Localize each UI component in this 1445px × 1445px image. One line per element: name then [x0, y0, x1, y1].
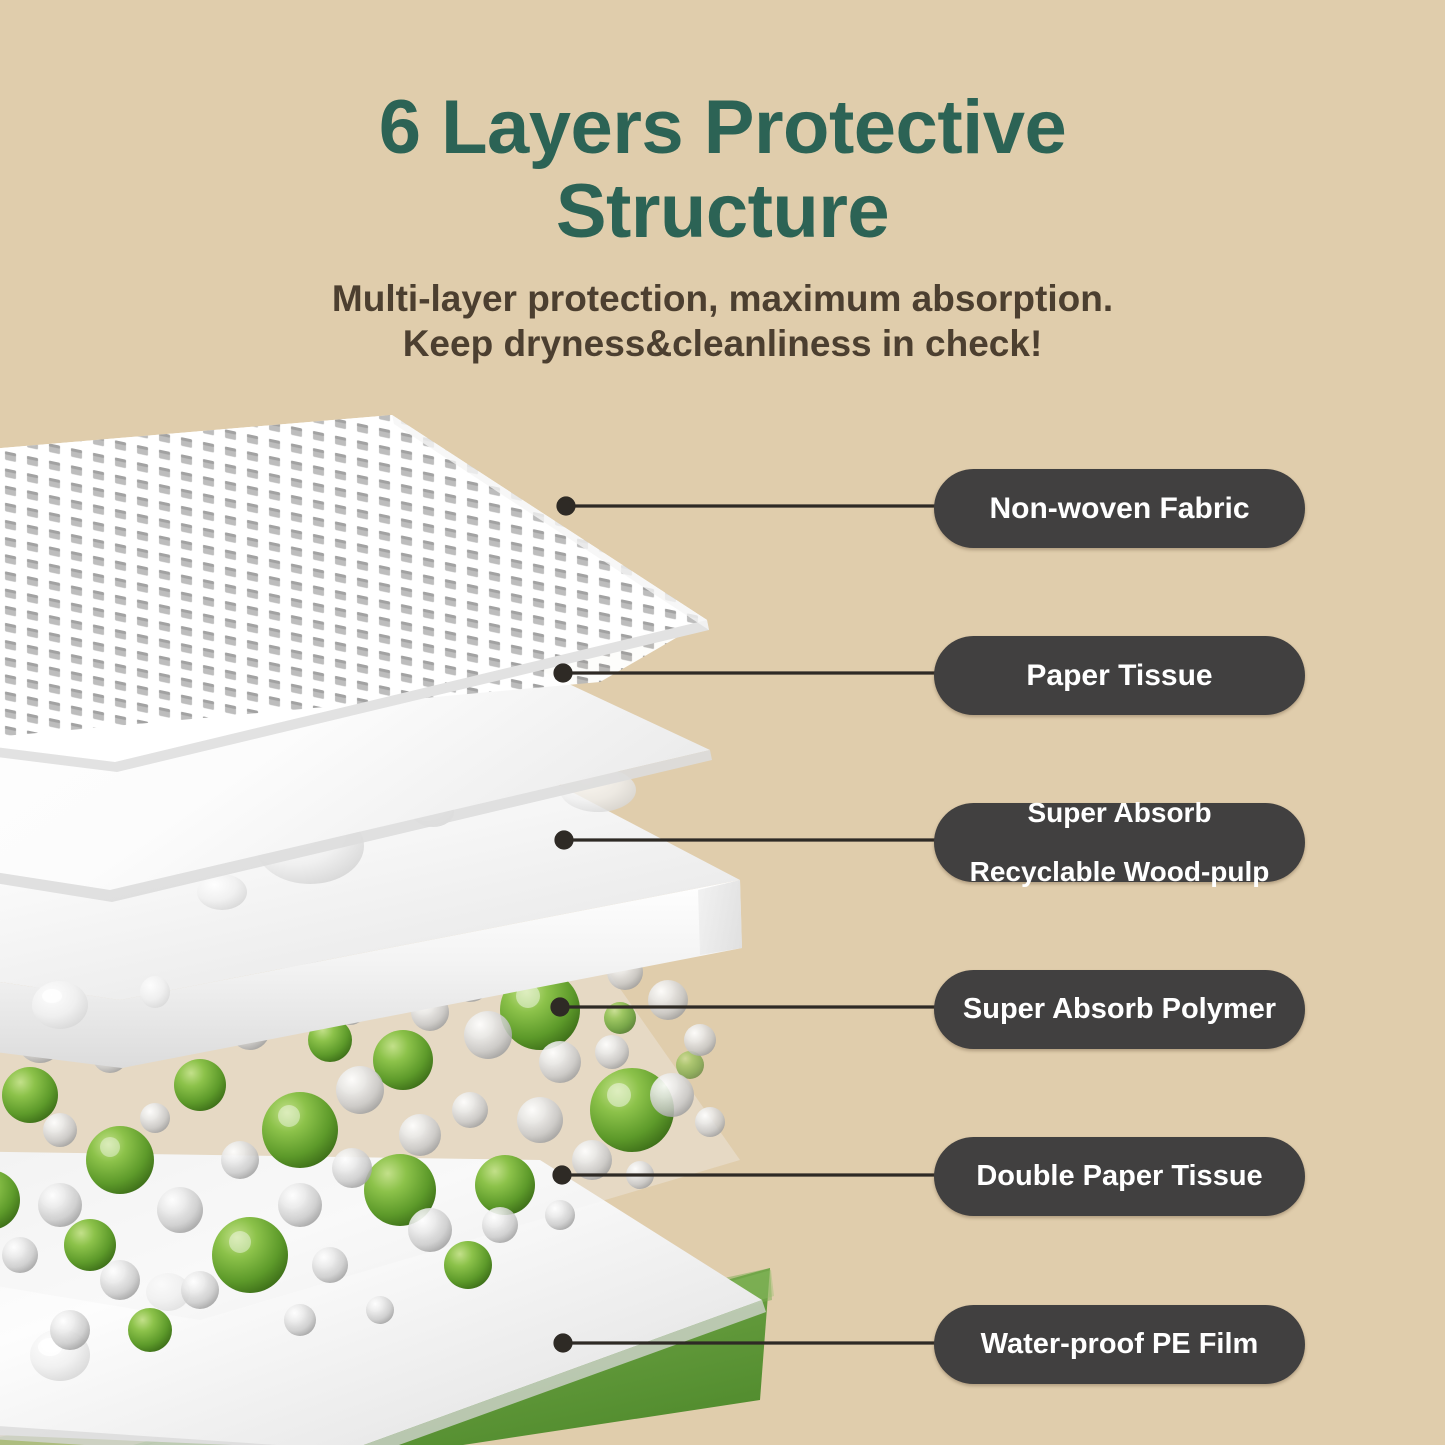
- page-title: 6 Layers Protective Structure: [273, 0, 1173, 254]
- callout-label-1: Non-woven Fabric: [977, 493, 1261, 525]
- callout-label-3-line-2: Recyclable Wood-pulp: [958, 857, 1282, 886]
- callout-label-5: Double Paper Tissue: [964, 1161, 1274, 1191]
- callout-water-proof-pe-film[interactable]: Water-proof PE Film: [934, 1305, 1305, 1384]
- callout-non-woven-fabric[interactable]: Non-woven Fabric: [934, 469, 1305, 548]
- callout-label-2: Paper Tissue: [1014, 660, 1224, 692]
- callout-label-4: Super Absorb Polymer: [951, 994, 1288, 1024]
- callout-super-absorb-wood-pulp[interactable]: Super Absorb Recyclable Wood-pulp: [934, 803, 1305, 882]
- callout-super-absorb-polymer[interactable]: Super Absorb Polymer: [934, 970, 1305, 1049]
- callout-label-3: Super Absorb Recyclable Wood-pulp: [946, 798, 1294, 886]
- page-subtitle: Multi-layer protection, maximum absorpti…: [223, 254, 1223, 366]
- header: 6 Layers Protective Structure Multi-laye…: [0, 0, 1445, 366]
- callout-label-6: Water-proof PE Film: [969, 1329, 1271, 1359]
- callout-paper-tissue[interactable]: Paper Tissue: [934, 636, 1305, 715]
- subtitle-line-2: Keep dryness&cleanliness in check!: [403, 323, 1043, 364]
- callout-double-paper-tissue[interactable]: Double Paper Tissue: [934, 1137, 1305, 1216]
- infographic-root: 6 Layers Protective Structure Multi-laye…: [0, 0, 1445, 1445]
- subtitle-line-1: Multi-layer protection, maximum absorpti…: [332, 278, 1113, 319]
- callout-label-3-line-1: Super Absorb: [958, 798, 1282, 827]
